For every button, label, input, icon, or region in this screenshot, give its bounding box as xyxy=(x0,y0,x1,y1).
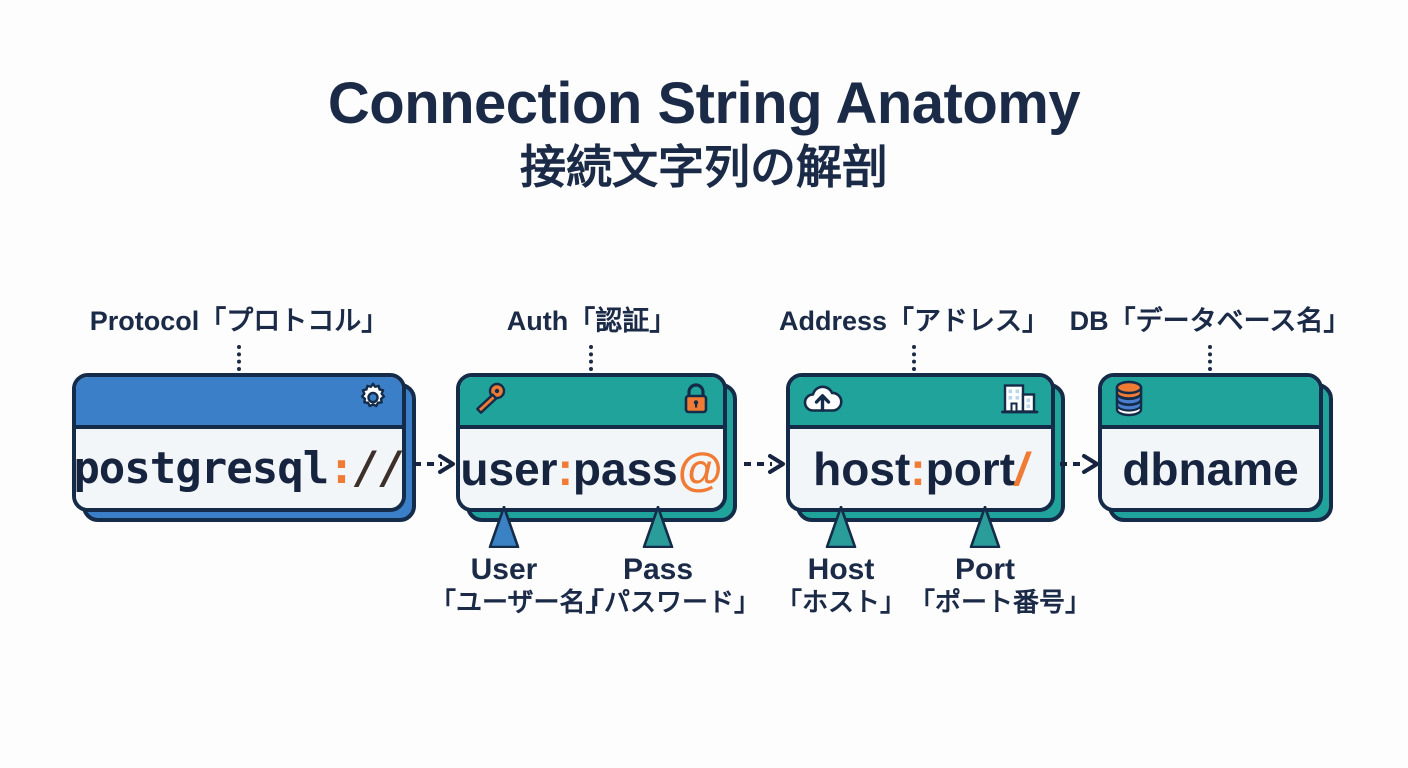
callout-label-host: Host 「ホスト」 xyxy=(773,554,909,616)
card-body: dbname xyxy=(1102,429,1319,508)
value-database: dbname xyxy=(1122,442,1298,496)
label-connector-address xyxy=(912,345,916,371)
callout-label-user: User 「ユーザー名」 xyxy=(430,554,578,616)
connector-arrow-1 xyxy=(412,452,456,476)
callout-pointer-host xyxy=(824,506,858,553)
card-front: dbname xyxy=(1098,373,1323,512)
value-protocol: postgresql:// xyxy=(73,443,404,494)
callout-pointer-port xyxy=(968,506,1002,553)
segment-card-auth[interactable]: user:pass@ xyxy=(456,373,727,512)
segment-label-database: DB「データベース名」 xyxy=(1060,308,1360,335)
page-title: Connection String Anatomy xyxy=(0,74,1408,135)
card-body: user:pass@ xyxy=(460,429,723,508)
value-auth: user:pass@ xyxy=(460,442,722,496)
building-icon xyxy=(1001,382,1039,421)
card-body: host:port/ xyxy=(790,429,1051,508)
callout-pointer-user xyxy=(487,506,521,553)
diagram-canvas: Connection String Anatomy 接続文字列の解剖 Proto… xyxy=(0,0,1408,768)
connector-arrow-3 xyxy=(1058,452,1100,476)
card-front: postgresql:// xyxy=(72,373,406,512)
card-front: user:pass@ xyxy=(456,373,727,512)
card-body: postgresql:// xyxy=(76,429,402,508)
callout-label-pass: Pass 「パスワード」 xyxy=(578,554,738,616)
database-icon xyxy=(1114,381,1144,422)
lock-icon xyxy=(681,382,711,421)
label-connector-protocol xyxy=(237,345,241,371)
segment-label-address: Address「アドレス」 xyxy=(772,308,1056,335)
card-front: host:port/ xyxy=(786,373,1055,512)
card-header xyxy=(460,377,723,429)
gear-icon xyxy=(356,382,390,421)
card-header xyxy=(76,377,402,429)
label-connector-database xyxy=(1208,345,1212,371)
key-icon xyxy=(472,383,508,420)
segment-card-protocol[interactable]: postgresql:// xyxy=(72,373,406,512)
cloud-upload-icon xyxy=(802,384,844,419)
title-block: Connection String Anatomy 接続文字列の解剖 xyxy=(0,74,1408,194)
card-header xyxy=(1102,377,1319,429)
card-header xyxy=(790,377,1051,429)
label-connector-auth xyxy=(589,345,593,371)
callout-pointer-pass xyxy=(641,506,675,553)
segment-label-auth: Auth「認証」 xyxy=(456,308,727,335)
segment-card-address[interactable]: host:port/ xyxy=(786,373,1055,512)
segment-label-protocol: Protocol「プロトコル」 xyxy=(72,308,406,335)
segment-card-database[interactable]: dbname xyxy=(1098,373,1323,512)
page-subtitle: 接続文字列の解剖 xyxy=(0,141,1408,194)
callout-label-port: Port 「ポート番号」 xyxy=(909,554,1061,616)
value-address: host:port/ xyxy=(813,442,1028,496)
connector-arrow-2 xyxy=(742,452,786,476)
